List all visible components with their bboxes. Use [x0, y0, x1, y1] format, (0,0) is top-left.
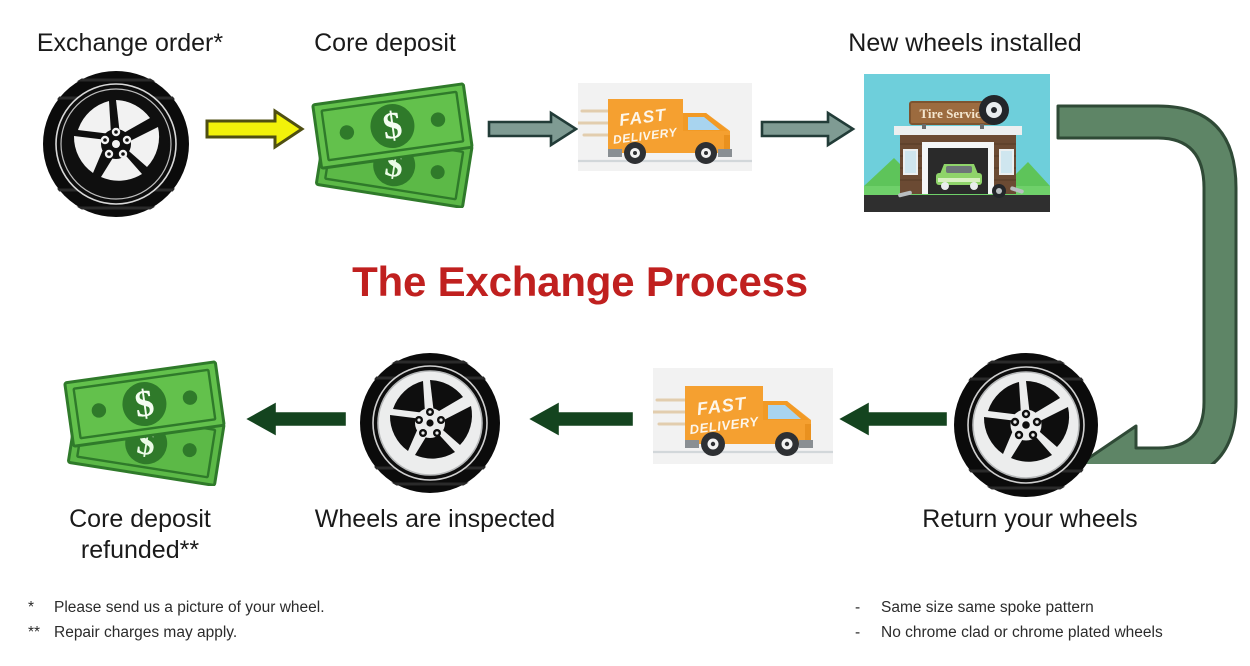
exchange-process-diagram: Exchange order* Core deposit New wheels … [0, 0, 1250, 666]
label-core-deposit: Core deposit [270, 28, 500, 59]
arrow-inspected-to-refund [245, 402, 347, 436]
arrow-truck-to-inspected [528, 402, 634, 436]
arrow-order-to-deposit [205, 108, 305, 150]
label-core-deposit-refunded: Core deposit refunded** [20, 504, 260, 565]
footnote-right-mark-1: - [855, 595, 881, 620]
label-new-wheels-installed: New wheels installed [790, 28, 1140, 59]
footnotes-right: - Same size same spoke pattern - No chro… [855, 595, 1245, 645]
footnote-right-text-2: No chrome clad or chrome plated wheels [881, 620, 1163, 645]
tire-service-garage-icon: Tire Service [864, 74, 1050, 212]
footnote-left-mark-2: ** [28, 620, 54, 645]
footnote-left-mark-1: * [28, 595, 54, 620]
footnote-right-text-1: Same size same spoke pattern [881, 595, 1094, 620]
label-exchange-order: Exchange order* [0, 28, 260, 59]
label-core-deposit-refunded-line2: refunded** [81, 536, 199, 564]
page-title: The Exchange Process [0, 258, 1160, 306]
money-cash-icon-top: $ $ [303, 72, 483, 208]
label-wheels-are-inspected: Wheels are inspected [290, 504, 580, 535]
footnote-right-mark-2: - [855, 620, 881, 645]
footnotes-left: * Please send us a picture of your wheel… [28, 595, 498, 645]
footnote-left-text-2: Repair charges may apply. [54, 620, 237, 645]
wheel-black-rim-icon [36, 70, 196, 218]
footnote-left-row-2: ** Repair charges may apply. [28, 620, 498, 645]
svg-text:Tire Service: Tire Service [919, 106, 986, 121]
label-return-your-wheels: Return your wheels [885, 504, 1175, 535]
arrow-deposit-to-truck [487, 110, 579, 148]
footnote-right-row-2: - No chrome clad or chrome plated wheels [855, 620, 1245, 645]
arrow-return-to-truck [838, 402, 948, 436]
delivery-truck-icon-top: FAST DELIVERY [578, 83, 752, 171]
wheel-silver-rim-icon-return [951, 352, 1101, 498]
wheel-silver-rim-icon-inspected [357, 352, 503, 494]
footnote-left-row-1: * Please send us a picture of your wheel… [28, 595, 498, 620]
label-core-deposit-refunded-line1: Core deposit [69, 505, 211, 533]
footnote-right-row-1: - Same size same spoke pattern [855, 595, 1245, 620]
money-cash-icon-bottom: $ $ [55, 350, 235, 486]
footnote-left-text-1: Please send us a picture of your wheel. [54, 595, 325, 620]
arrow-truck-to-garage [760, 110, 856, 148]
delivery-truck-icon-bottom: FAST DELIVERY [653, 368, 833, 464]
